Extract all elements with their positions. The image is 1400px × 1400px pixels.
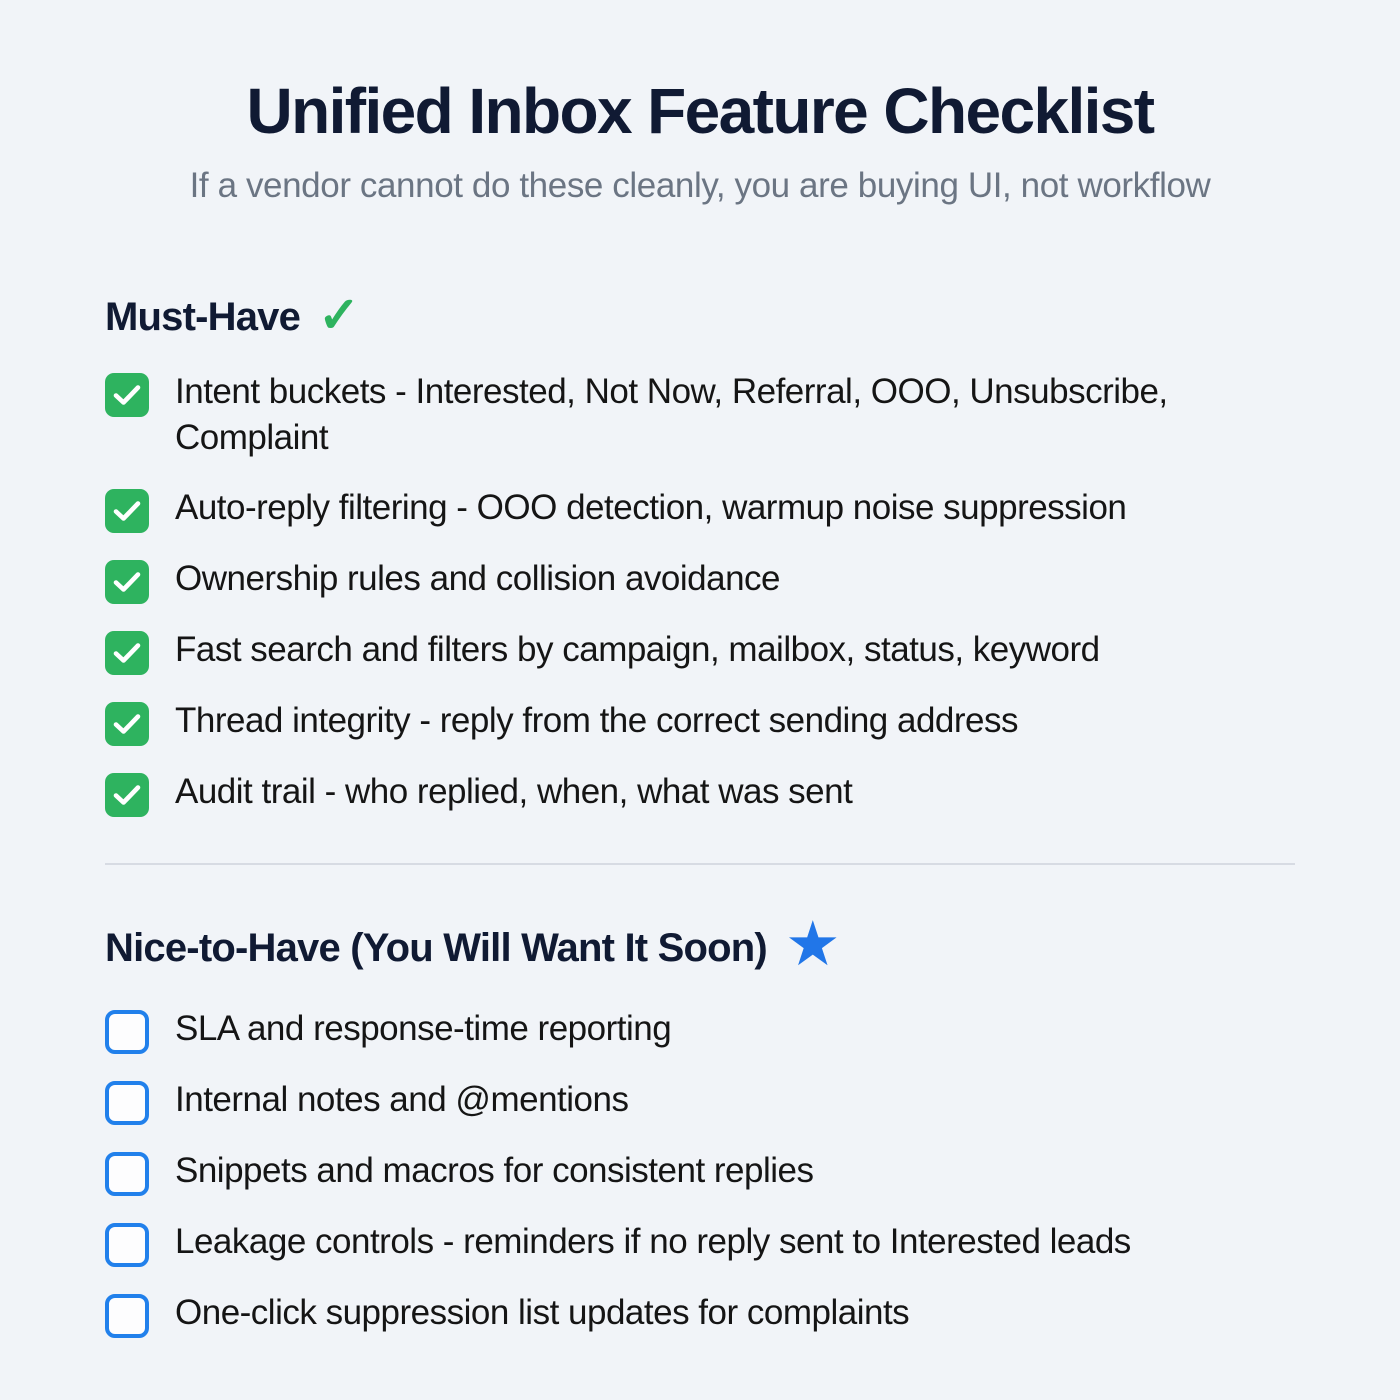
list-item[interactable]: Leakage controls - reminders if no reply… xyxy=(105,1218,1295,1267)
list-item-label: Snippets and macros for consistent repli… xyxy=(175,1147,814,1194)
checkbox-unchecked-icon[interactable] xyxy=(105,1081,149,1125)
list-item-label: SLA and response-time reporting xyxy=(175,1005,671,1052)
section-must-have-title: Must-Have xyxy=(105,295,300,339)
checkbox-checked-icon[interactable] xyxy=(105,702,149,746)
list-item-label: Auto-reply filtering - OOO detection, wa… xyxy=(175,484,1126,531)
section-must-have-header: Must-Have ✓ xyxy=(105,292,1295,342)
nice-to-have-list: SLA and response-time reporting Internal… xyxy=(105,1005,1295,1338)
checklist-page: Unified Inbox Feature Checklist If a ven… xyxy=(0,0,1400,1400)
list-item-label: One-click suppression list updates for c… xyxy=(175,1289,909,1336)
list-item[interactable]: Ownership rules and collision avoidance xyxy=(105,555,1295,604)
page-header: Unified Inbox Feature Checklist If a ven… xyxy=(105,0,1295,207)
list-item-label: Ownership rules and collision avoidance xyxy=(175,555,780,602)
list-item-label: Intent buckets - Interested, Not Now, Re… xyxy=(175,368,1295,461)
list-item[interactable]: Audit trail - who replied, when, what wa… xyxy=(105,768,1295,817)
checkbox-checked-icon[interactable] xyxy=(105,489,149,533)
section-must-have: Must-Have ✓ Intent buckets - Interested,… xyxy=(105,292,1295,816)
blue-star-icon: ★ xyxy=(785,914,841,976)
page-title: Unified Inbox Feature Checklist xyxy=(105,78,1295,145)
list-item-label: Audit trail - who replied, when, what wa… xyxy=(175,768,852,815)
checkbox-unchecked-icon[interactable] xyxy=(105,1152,149,1196)
list-item-label: Fast search and filters by campaign, mai… xyxy=(175,626,1100,673)
list-item[interactable]: Fast search and filters by campaign, mai… xyxy=(105,626,1295,675)
checkbox-checked-icon[interactable] xyxy=(105,631,149,675)
list-item[interactable]: Intent buckets - Interested, Not Now, Re… xyxy=(105,368,1295,461)
green-check-icon: ✓ xyxy=(318,290,360,340)
list-item[interactable]: Thread integrity - reply from the correc… xyxy=(105,697,1295,746)
list-item[interactable]: Auto-reply filtering - OOO detection, wa… xyxy=(105,484,1295,533)
must-have-list: Intent buckets - Interested, Not Now, Re… xyxy=(105,368,1295,816)
list-item[interactable]: Internal notes and @mentions xyxy=(105,1076,1295,1125)
checkbox-checked-icon[interactable] xyxy=(105,773,149,817)
list-item[interactable]: One-click suppression list updates for c… xyxy=(105,1289,1295,1338)
checkbox-unchecked-icon[interactable] xyxy=(105,1010,149,1054)
page-subtitle: If a vendor cannot do these cleanly, you… xyxy=(105,165,1295,207)
list-item-label: Leakage controls - reminders if no reply… xyxy=(175,1218,1131,1265)
list-item-label: Thread integrity - reply from the correc… xyxy=(175,697,1018,744)
checkbox-checked-icon[interactable] xyxy=(105,373,149,417)
list-item[interactable]: Snippets and macros for consistent repli… xyxy=(105,1147,1295,1196)
checkbox-checked-icon[interactable] xyxy=(105,560,149,604)
section-nice-to-have-title: Nice-to-Have (You Will Want It Soon) xyxy=(105,926,767,970)
list-item[interactable]: SLA and response-time reporting xyxy=(105,1005,1295,1054)
section-divider xyxy=(105,863,1295,865)
checkbox-unchecked-icon[interactable] xyxy=(105,1223,149,1267)
section-nice-to-have-header: Nice-to-Have (You Will Want It Soon) ★ xyxy=(105,917,1295,979)
list-item-label: Internal notes and @mentions xyxy=(175,1076,628,1123)
checkbox-unchecked-icon[interactable] xyxy=(105,1294,149,1338)
section-nice-to-have: Nice-to-Have (You Will Want It Soon) ★ S… xyxy=(105,917,1295,1338)
